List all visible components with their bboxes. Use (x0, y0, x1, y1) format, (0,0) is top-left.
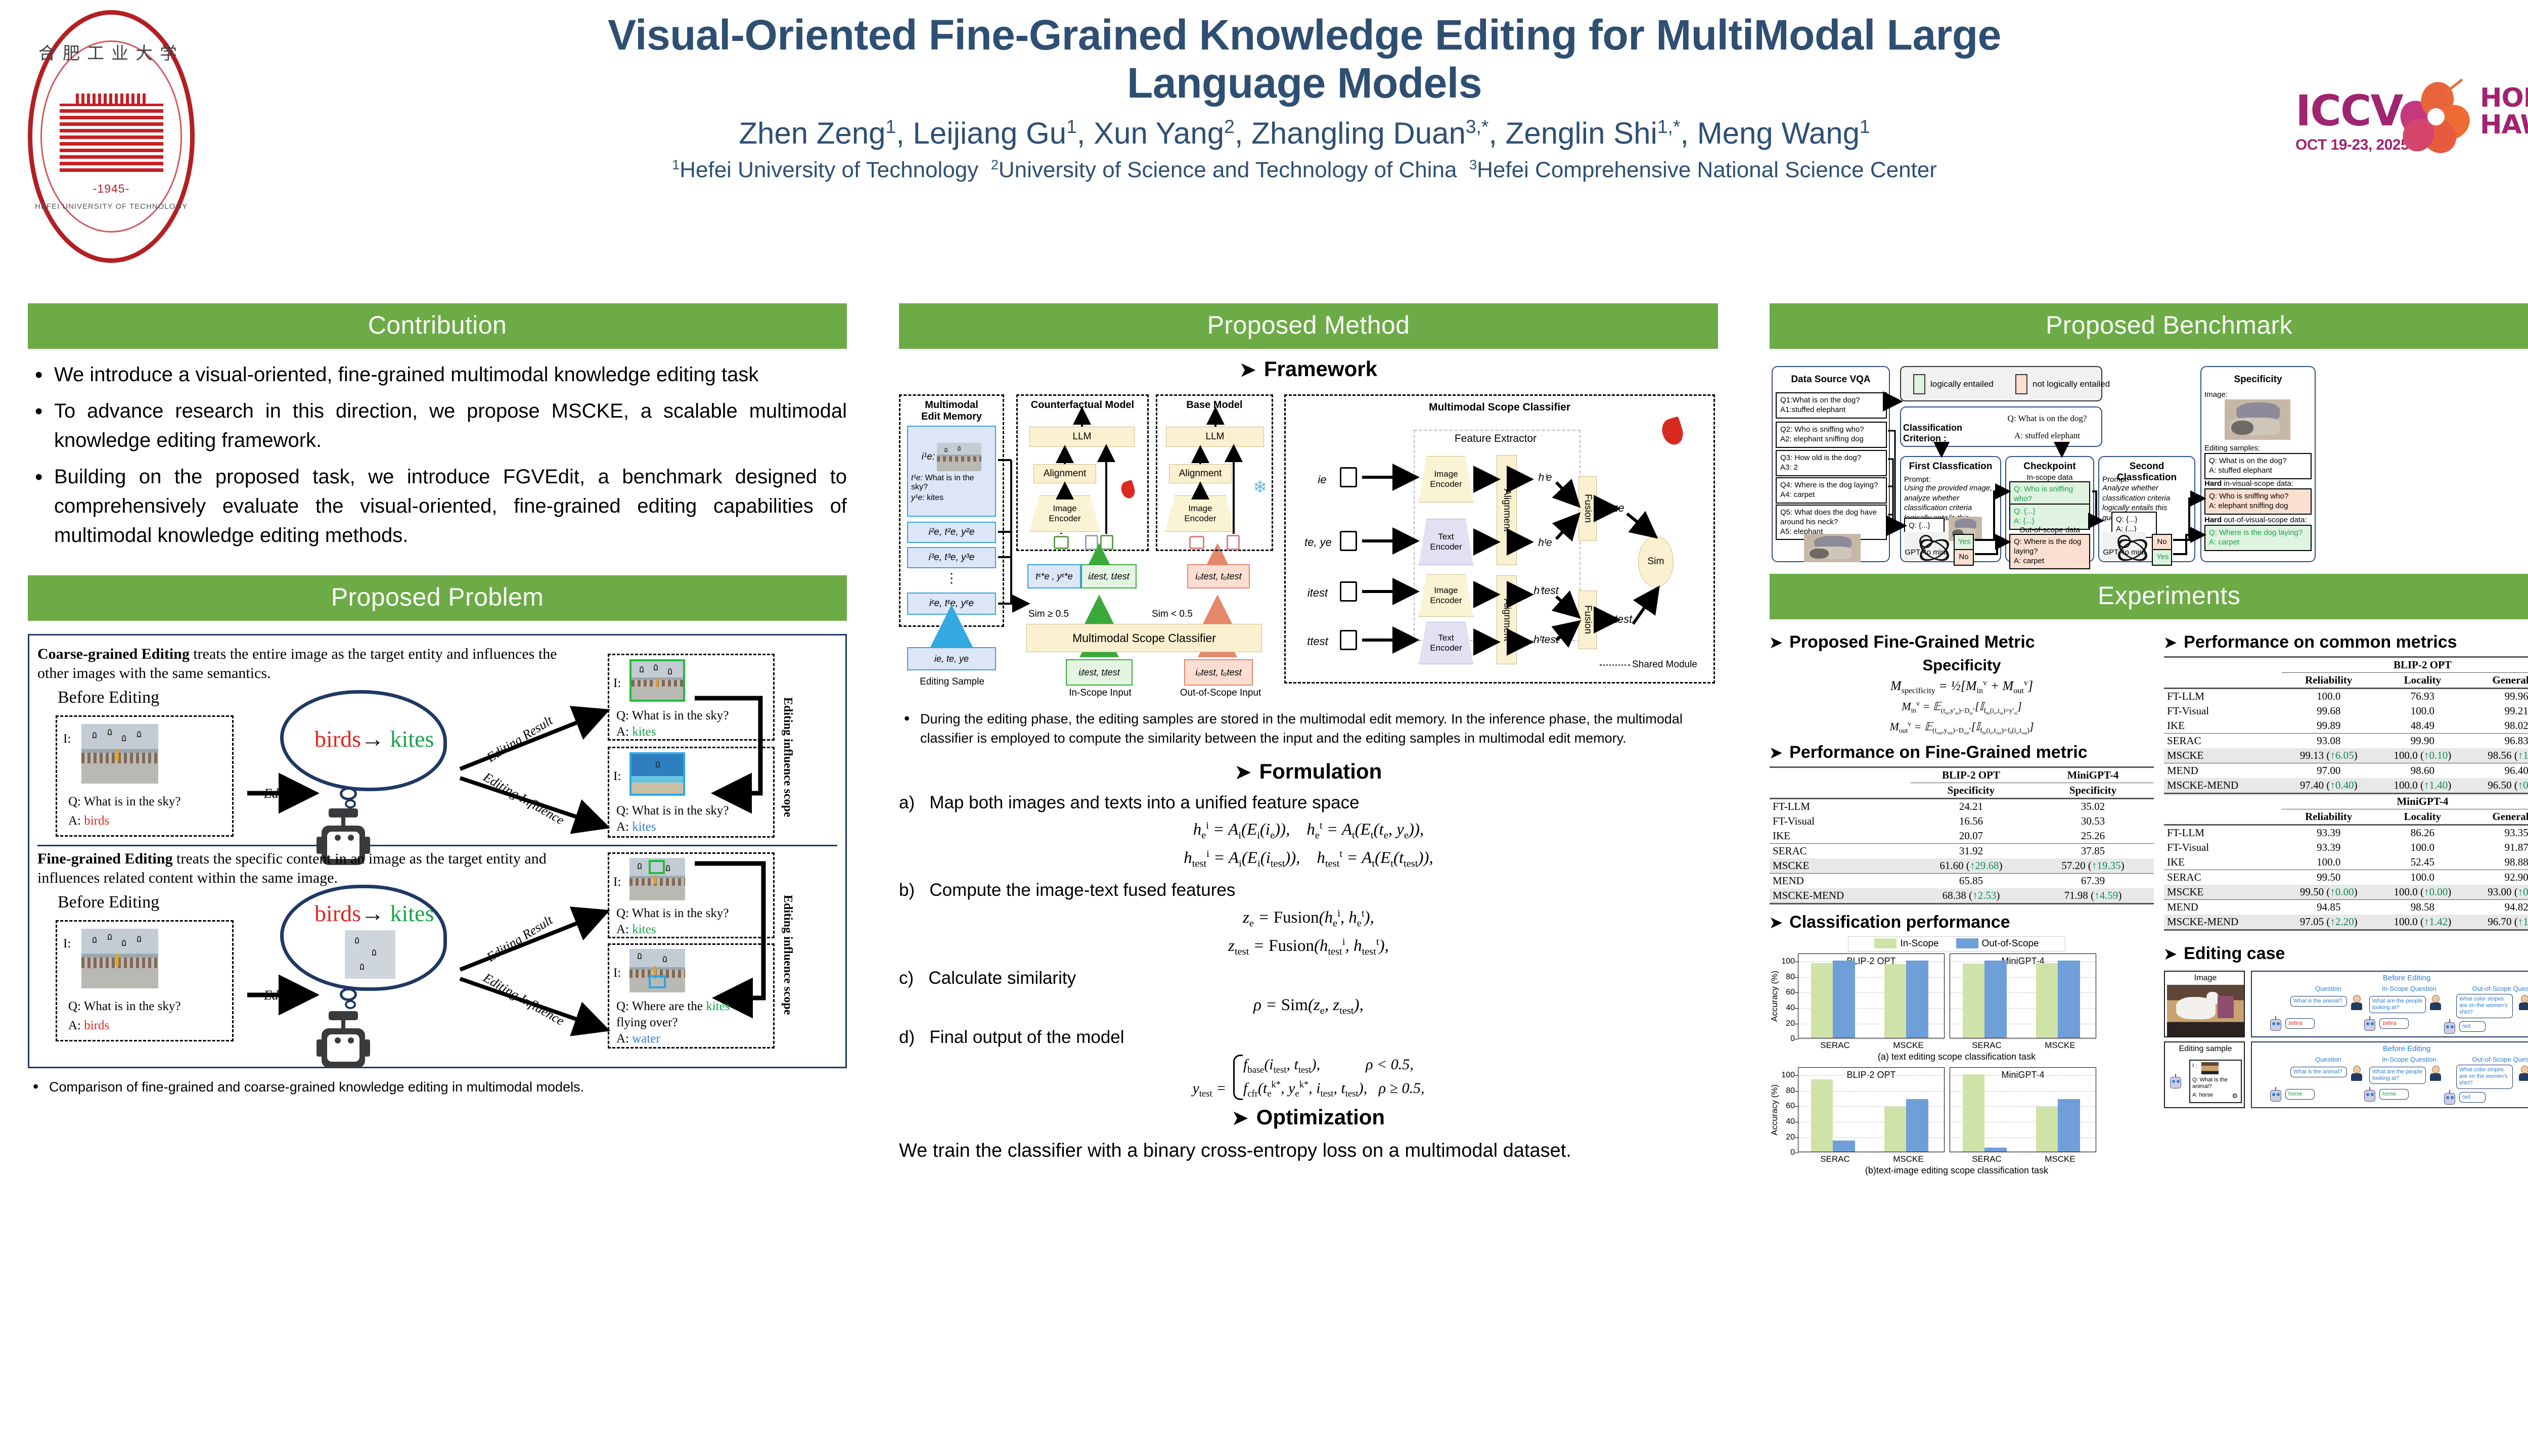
arrow-bullet-icon: ➤ (1240, 359, 1256, 381)
answer-bubble-in-1: zebra (2379, 1018, 2409, 1029)
chart-bar (2036, 1107, 2058, 1152)
table-cell: 100.0 (2376, 704, 2470, 718)
editing-case-before-panel: Before Editing Question In-Scope Questio… (2251, 971, 2528, 1037)
logo-chinese-name: 合肥工业大学 (28, 39, 195, 64)
sky-kite-photo (629, 752, 685, 796)
chart-caption: (a) text editing scope classification ta… (1770, 1052, 2144, 1062)
piecewise-cases: fbase(itest, ttest), ρ < 0.5, fcfr(tek*,… (1230, 1054, 1425, 1101)
question-col-label-2: Question (2300, 1056, 2356, 1063)
sample-image-label: I : (2192, 1063, 2197, 1069)
table-cell: 98.88 (2469, 855, 2528, 870)
chart-x-tick: SERAC (1972, 1152, 2002, 1164)
fine-scope-label: Editing influence scope (781, 895, 794, 1015)
fine-influence-box: I: Q: Where are the kites flying over? A… (608, 943, 775, 1049)
question-bubble-2: What is the animal? (2290, 1067, 2347, 1077)
table-cell: 92.90 (2469, 870, 2528, 885)
table-cell: 52.45 (2376, 855, 2470, 870)
in-scope-col-label-2: In-Scope Question (2371, 1056, 2447, 1063)
metric-equation-1: Mspecificity = ½[Minv + Moutv] (1770, 678, 2154, 696)
chart-x-tick: MSCKE (2045, 1152, 2075, 1164)
chart-y-axis-label: Accuracy (%) (1770, 1067, 1781, 1152)
fine-result-box: I: Q: What is in the sky? A: kites (608, 852, 775, 938)
table-cell: 93.08 (2282, 734, 2376, 749)
poster-title-line1: Visual-Oriented Fine-Grained Knowledge E… (354, 11, 2255, 59)
table-cell: 99.96 (2469, 689, 2528, 704)
affiliation-list: 1Hefei University of Technology 2Univers… (354, 157, 2255, 184)
formulation-step-d: d) Final output of the model (899, 1025, 1718, 1049)
robot-icon (2170, 1074, 2181, 1089)
table-cell: 99.50 (2282, 870, 2376, 885)
logo-building-icon (60, 104, 163, 172)
section-header-contribution: Contribution (28, 303, 847, 349)
out-scope-bubble-1: What color stripes are on the women's sh… (2456, 994, 2513, 1018)
table-row-label: MEND (1770, 874, 1910, 889)
sample-thumbnail (2201, 1062, 2219, 1074)
chart-bar (2036, 963, 2058, 1038)
fine-influence-question-line1: Q: Where are the kites (616, 998, 730, 1014)
table-row: FT-LLM24.2135.02 (1770, 799, 2154, 814)
robot-icon (2444, 1019, 2455, 1034)
table-row-label: MSCKE (2164, 748, 2282, 763)
table-col-header: Specificity (2032, 783, 2154, 799)
table-cell: 24.21 (1910, 799, 2032, 814)
person-icon (2351, 995, 2362, 1010)
before-editing-title-2: Before Editing (2252, 1044, 2528, 1053)
table-row-label: IKE (2164, 718, 2282, 734)
coarse-grained-panel: Coarse-grained Editing treats the entire… (37, 642, 837, 846)
kite-beach-photo-edited (629, 659, 685, 702)
table-cell: 20.07 (1910, 829, 2032, 844)
metric-equation-3: Moutv = 𝔼(tout,yout)~Doutv[𝕀fθe(ie,tout)… (1770, 720, 2154, 736)
kite-photo-green-box (629, 858, 685, 900)
robot-icon (2270, 1087, 2281, 1102)
common-metrics-subheading: ➤Performance on common metrics (2164, 632, 2528, 652)
table-cell: 57.20 (↑19.35) (2032, 858, 2154, 874)
section-header-experiments: Experiments (1770, 574, 2528, 619)
editing-case-after-panel: Before Editing Question In-Scope Questio… (2251, 1041, 2528, 1108)
table-cell: 65.85 (1910, 874, 2032, 889)
fine-grained-panel: Fine-grained Editing treats the specific… (37, 846, 837, 1059)
chart-y-axis-label: Accuracy (%) (1770, 953, 1781, 1038)
table-row-label: FT-Visual (2164, 704, 2282, 718)
wrench-icon: ⚙ (2232, 1092, 2238, 1100)
out-scope-col-label-2: Out-of-Scope Question (2460, 1056, 2528, 1063)
arrow-bullet-icon: ➤ (2164, 634, 2177, 651)
chart-bar (1963, 1074, 1985, 1152)
logo-english-name: HEFEI UNIVERSITY OF TECHNOLOGY (28, 202, 195, 211)
answer-bubble-in-2: horse (2379, 1089, 2409, 1100)
table-cell: 98.60 (2376, 763, 2470, 779)
editing-case-image-box: Image (2164, 971, 2245, 1037)
image-label: I: (613, 874, 621, 890)
before-editing-title-1: Before Editing (2252, 974, 2528, 982)
section-header-proposed-benchmark: Proposed Benchmark (1770, 303, 2528, 349)
table-cell: 93.35 (2469, 825, 2528, 841)
table-cell: 61.60 (↑29.68) (1910, 858, 2032, 874)
table-row-label: FT-Visual (2164, 840, 2282, 855)
person-icon (2351, 1066, 2362, 1081)
table-cell: 93.00 (↑0.10) (2469, 885, 2528, 900)
chart-bar (2058, 961, 2080, 1038)
table-row-label: MSCKE (1770, 858, 1910, 874)
chart-panel: BLIP-2 OPT020406080100SERACMSCKE (1798, 1067, 1945, 1152)
fine-influence-question-line2: flying over? (616, 1015, 678, 1030)
table-row-label: FT-LLM (1770, 799, 1910, 814)
logo-year: -1945- (28, 182, 195, 196)
table-cell: 100.0 (↑1.40) (2376, 778, 2470, 794)
chart-panel: MiniGPT-4SERACMSCKE (1950, 953, 2096, 1038)
table-col-header: Generality (2469, 809, 2528, 825)
fine-grained-performance-subheading: ➤Performance on Fine-Grained metric (1770, 743, 2154, 762)
table-cell: 98.02 (2469, 718, 2528, 734)
table-row-label: SERAC (2164, 734, 2282, 749)
table-col-header: Locality (2376, 673, 2470, 689)
table-cell: 94.85 (2282, 900, 2376, 915)
table-row: MEND97.0098.6096.40 (2164, 763, 2528, 779)
table-col-header: Locality (2376, 809, 2470, 825)
table-cell: 93.39 (2282, 840, 2376, 855)
table-cell: 99.90 (2376, 734, 2470, 749)
table-cell: 37.85 (2032, 844, 2154, 859)
table-row: MSCKE-MEND68.38 (↑2.53)71.98 (↑4.59) (1770, 888, 2154, 903)
table-cell: 48.49 (2376, 718, 2470, 734)
table-col-header: Generality (2469, 673, 2528, 689)
table-cell: 100.0 (2282, 689, 2376, 704)
equation-5: ρ = Sim(ze, ztest), (899, 994, 1718, 1018)
table-row: FT-Visual16.5630.53 (1770, 814, 2154, 829)
chart-x-tick: SERAC (1972, 1038, 2002, 1051)
list-item: Building on the proposed task, we introd… (28, 462, 847, 550)
table-col-group: BLIP-2 OPT (2282, 657, 2528, 673)
iccv-date: OCT 19-23, 2025 (2295, 136, 2409, 154)
chart-bar (1811, 1079, 1833, 1152)
list-item: We introduce a visual-oriented, fine-gra… (28, 360, 847, 389)
table-cell: 91.87 (2469, 840, 2528, 855)
arrow-bullet-icon: ➤ (1770, 634, 1782, 651)
table-cell: 99.68 (2282, 704, 2376, 718)
equation-3: ze = Fusion(hei, het), (899, 906, 1718, 931)
classification-performance-subheading: ➤Classification performance (1770, 913, 2154, 932)
chart-bar (1984, 961, 2007, 1038)
table-cell: 97.05 (↑2.20) (2282, 915, 2376, 929)
table-cell: 100.0 (↑0.10) (2376, 748, 2470, 763)
proposed-problem-figure: Coarse-grained Editing treats the entire… (28, 634, 847, 1068)
table-row-label: MEND (2164, 900, 2282, 915)
left-column: Contribution We introduce a visual-orien… (28, 303, 847, 1097)
sample-answer: A: horse (2192, 1092, 2213, 1098)
table-cell: 100.0 (2376, 870, 2470, 885)
equation-1: hei = Ai(Ei(ie)), het = At(Et(te, ye)), (899, 818, 1718, 843)
editing-sample-card: I : Q: What is the animal? A: horse ⚙ (2189, 1060, 2242, 1103)
formulation-step-c: c) Calculate similarity (899, 966, 1718, 990)
robot-icon (2270, 1016, 2281, 1031)
classification-charts: In-ScopeOut-of-ScopeAccuracy (%)BLIP-2 O… (1770, 936, 2144, 1176)
robot-icon (2364, 1016, 2375, 1031)
table-cell: 25.26 (2032, 829, 2154, 844)
chart-bar (1833, 961, 1855, 1038)
fine-result-question: Q: What is in the sky? (616, 905, 729, 921)
iccv-logo: ICCV OCT 19-23, 2025 HONOLULU HAWAII (2290, 66, 2528, 182)
robot-icon (2444, 1090, 2455, 1105)
table-cell: 86.26 (2376, 825, 2470, 841)
table-cell: 97.40 (↑0.40) (2282, 778, 2376, 794)
table-row-label: SERAC (1770, 844, 1910, 859)
iccv-city: HONOLULU (2480, 85, 2528, 112)
table-cell: 100.0 (2376, 840, 2470, 855)
table-cell: 98.58 (2376, 900, 2470, 915)
chart-bar (1963, 964, 1985, 1038)
answer-bubble-out-1: red (2459, 1021, 2486, 1032)
poster-title-line2: Language Models (354, 59, 2255, 107)
iccv-location: HONOLULU HAWAII (2480, 85, 2528, 139)
table-col-header: Reliability (2282, 673, 2376, 689)
table-row: MEND94.8598.5894.82 (2164, 900, 2528, 915)
table-row-label: FT-LLM (2164, 689, 2282, 704)
table-cell: 100.0 (↑1.42) (2376, 915, 2470, 929)
table-col-group: MiniGPT-4 (2282, 794, 2528, 809)
table-row: FT-Visual93.39100.091.87 (2164, 840, 2528, 855)
question-col-label-1: Question (2300, 985, 2356, 992)
table-cell: 99.13 (↑6.05) (2282, 748, 2376, 763)
optimization-text: We train the classifier with a binary cr… (899, 1137, 1718, 1164)
table-col-group: BLIP-2 OPT (1910, 767, 2032, 783)
table-row: FT-LLM93.3986.2693.35 (2164, 825, 2528, 841)
table-cell: 96.50 (↑0.10) (2469, 778, 2528, 794)
table-cell: 76.93 (2376, 689, 2470, 704)
iccv-state: HAWAII (2480, 112, 2528, 139)
table-cell: 35.02 (2032, 799, 2154, 814)
section-header-proposed-problem: Proposed Problem (28, 575, 847, 621)
legend-entry: In-Scope (1874, 938, 1938, 949)
fine-grained-table: BLIP-2 OPTMiniGPT-4SpecificitySpecificit… (1770, 766, 2154, 904)
table-row-label: MEND (2164, 763, 2282, 779)
hibiscus-flower-icon (2399, 80, 2475, 158)
equation-2: htesti = Ai(Ei(itest)), htestt = At(Et(t… (899, 847, 1718, 871)
out-scope-bubble-2: What color stripes are on the women's sh… (2456, 1065, 2513, 1089)
table-row: MEND65.8567.39 (1770, 874, 2154, 889)
chart-legend: In-ScopeOut-of-Scope (1848, 936, 2065, 951)
table-row-label: IKE (2164, 855, 2282, 870)
formulation-list: a) Map both images and texts into a unif… (899, 791, 1718, 1101)
image-label: I: (613, 675, 621, 691)
table-row: FT-LLM100.076.9399.96 (2164, 689, 2528, 704)
table-row-label: FT-LLM (2164, 825, 2282, 841)
table-cell: 67.39 (2032, 874, 2154, 889)
arrow-bullet-icon: ➤ (2164, 946, 2177, 963)
chart-bar (1906, 961, 1928, 1038)
table-cell: 96.70 (↑1.88) (2469, 915, 2528, 929)
image-label: I: (613, 965, 621, 981)
table-row: FT-Visual99.68100.099.21 (2164, 704, 2528, 718)
chart-x-tick: MSCKE (1893, 1152, 1923, 1164)
specificity-metric-label: Specificity (1770, 656, 2154, 674)
table-row-label: FT-Visual (1770, 814, 1910, 829)
coarse-result-answer: A: kites (616, 724, 656, 740)
person-icon (2430, 1066, 2441, 1081)
framework-subheading: ➤Framework (899, 357, 1718, 381)
equation-6: ytest = fbase(itest, ttest), ρ < 0.5, fc… (899, 1054, 1718, 1101)
formulation-subheading: ➤Formulation (899, 759, 1718, 784)
framework-note: During the editing phase, the editing sa… (899, 709, 1718, 748)
coarse-result-question: Q: What is in the sky? (616, 708, 729, 723)
table-row: IKE99.8948.4998.02 (2164, 718, 2528, 734)
chart-x-tick: SERAC (1820, 1152, 1850, 1164)
coarse-influence-question: Q: What is in the sky? (616, 803, 729, 818)
chart-bar (1984, 1148, 2007, 1152)
chart-caption: (b)text-image editing scope classificati… (1770, 1165, 2144, 1176)
chart-bar (1811, 963, 1833, 1038)
author-list: Zhen Zeng1, Leijiang Gu1, Xun Yang2, Zha… (354, 115, 2255, 152)
iccv-wordmark: ICCV (2295, 86, 2403, 135)
chart-bar (1884, 964, 1907, 1038)
table-row: IKE100.052.4598.88 (2164, 855, 2528, 870)
table-cell: 31.92 (1910, 844, 2032, 859)
equation-4: ztest = Fusion(htesti, htestt), (899, 935, 1718, 959)
answer-bubble-q-1: zebra (2285, 1018, 2315, 1029)
table-row: SERAC93.0899.9096.83 (2164, 734, 2528, 749)
table-cell: 94.82 (2469, 900, 2528, 915)
table-row: SERAC31.9237.85 (1770, 844, 2154, 859)
kite-photo-blue-box (629, 949, 685, 992)
table-cell: 97.00 (2282, 763, 2376, 779)
chart-bar (1906, 1099, 1928, 1152)
person-icon (2519, 1066, 2528, 1081)
coarse-influence-answer: A: kites (616, 819, 656, 835)
section-header-proposed-method: Proposed Method (899, 303, 1718, 349)
table-row: MSCKE61.60 (↑29.68)57.20 (↑19.35) (1770, 858, 2154, 874)
table-row-label: MSCKE (2164, 885, 2282, 900)
chart-bar (1884, 1107, 1907, 1152)
sample-question: Q: What is the animal? (2192, 1077, 2241, 1089)
benchmark-figure: Data Source VQA Q1:What is on the dog?A1… (1770, 354, 2528, 564)
title-block: Visual-Oriented Fine-Grained Knowledge E… (354, 11, 2255, 184)
editing-case-subheading: ➤Editing case (2164, 944, 2528, 964)
table-cell: 68.38 (↑2.53) (1910, 888, 2032, 903)
table-cell: 71.98 (↑4.59) (2032, 888, 2154, 903)
editing-sample-label: Editing sample (2165, 1044, 2246, 1054)
chart-bar (2058, 1099, 2080, 1152)
table-row-label: MSCKE-MEND (1770, 888, 1910, 903)
question-bubble-1: What is the animal? (2290, 996, 2347, 1007)
in-scope-bubble-1: What are the people looking at? (2369, 996, 2426, 1013)
chart-panel: BLIP-2 OPT020406080100SERACMSCKE (1798, 953, 1945, 1038)
table-cell: 30.53 (2032, 814, 2154, 829)
table-cell: 99.89 (2282, 718, 2376, 734)
table-row-label: IKE (1770, 829, 1910, 844)
table-col-group: MiniGPT-4 (2032, 767, 2154, 783)
editing-case-figure: Image Editing sample I : Q: Wh (2164, 968, 2528, 1119)
right-column: Proposed Benchmark Data Source VQA Q1:Wh… (1770, 303, 2528, 1176)
table-cell: 99.21 (2469, 704, 2528, 718)
table-row: IKE20.0725.26 (1770, 829, 2154, 844)
framework-diagram: MultimodalEdit Memory i¹e: t¹e: What is … (899, 386, 1718, 702)
chart-panel: MiniGPT-4SERACMSCKE (1950, 1067, 2096, 1152)
image-label: I: (613, 768, 621, 784)
table-cell: 100.0 (↑0.00) (2376, 885, 2470, 900)
arrow-bullet-icon: ➤ (1770, 915, 1782, 931)
formulation-step-b: b) Compute the image-text fused features (899, 878, 1718, 902)
table-cell: 98.56 (↑1.73) (2469, 748, 2528, 763)
chart-x-tick: SERAC (1820, 1038, 1850, 1051)
table-cell: 96.40 (2469, 763, 2528, 779)
metric-equation-2: Minv = 𝔼(tin,y′in)~Dinv[𝕀fθe(ie,tin)=y′i… (1770, 700, 2154, 715)
editing-case-sample-box: Editing sample I : Q: What is the animal… (2164, 1041, 2245, 1108)
table-cell: 96.83 (2469, 734, 2528, 749)
table-col-header: Reliability (2282, 809, 2376, 825)
chart-x-tick: MSCKE (1893, 1038, 1923, 1051)
framework-arrows-msc (899, 386, 1718, 700)
horse-photo (2167, 985, 2244, 1036)
table-row: SERAC99.50100.092.90 (2164, 870, 2528, 885)
answer-bubble-out-2: red (2459, 1092, 2486, 1103)
table-col-header: Specificity (1910, 783, 2032, 799)
table-cell: 99.50 (↑0.00) (2282, 885, 2376, 900)
formulation-step-a: a) Map both images and texts into a unif… (899, 791, 1718, 814)
chart-x-tick: MSCKE (2045, 1038, 2075, 1051)
table-row: MSCKE99.50 (↑0.00)100.0 (↑0.00)93.00 (↑0… (2164, 885, 2528, 900)
arrow-bullet-icon: ➤ (1235, 762, 1251, 783)
person-icon (2519, 995, 2528, 1010)
contribution-list: We introduce a visual-oriented, fine-gra… (28, 360, 847, 550)
common-metrics-table: BLIP-2 OPTReliabilityLocalityGeneralityF… (2164, 656, 2528, 931)
poster-header: 合肥工业大学 -1945- HEFEI UNIVERSITY OF TECHNO… (0, 0, 2528, 283)
coarse-scope-label: Editing influence scope (781, 697, 794, 817)
robot-icon (2364, 1087, 2375, 1102)
in-scope-bubble-2: What are the people looking at? (2369, 1067, 2426, 1084)
person-icon (2430, 995, 2441, 1010)
editing-case-image-label: Image (2165, 974, 2246, 983)
middle-column: Proposed Method ➤Framework MultimodalEdi… (899, 303, 1718, 1164)
coarse-result-box: I: Q: What is in the sky? A: kites (608, 654, 775, 741)
table-row: MSCKE-MEND97.40 (↑0.40)100.0 (↑1.40)96.5… (2164, 778, 2528, 794)
arrow-bullet-icon: ➤ (1232, 1108, 1248, 1129)
fine-grained-metric-subheading: ➤Proposed Fine-Grained Metric (1770, 632, 2154, 652)
table-row-label: SERAC (2164, 870, 2282, 885)
legend-entry: Out-of-Scope (1956, 938, 2039, 949)
arrow-bullet-icon: ➤ (1770, 745, 1782, 761)
list-item: To advance research in this direction, w… (28, 396, 847, 455)
table-row-label: MSCKE-MEND (2164, 915, 2282, 929)
table-row: MSCKE99.13 (↑6.05)100.0 (↑0.10)98.56 (↑1… (2164, 748, 2528, 763)
fine-result-answer: A: kites (616, 922, 656, 937)
in-scope-col-label-1: In-Scope Question (2371, 985, 2447, 992)
optimization-subheading: ➤Optimization (899, 1105, 1718, 1129)
chart-bar (1833, 1141, 1855, 1152)
hefei-university-logo: 合肥工业大学 -1945- HEFEI UNIVERSITY OF TECHNO… (28, 10, 195, 263)
table-cell: 93.39 (2282, 825, 2376, 841)
table-cell: 100.0 (2282, 855, 2376, 870)
fine-influence-answer: A: water (616, 1031, 660, 1046)
answer-bubble-q-2: horse (2285, 1089, 2315, 1100)
benchmark-arrows (1770, 354, 2528, 564)
table-cell: 16.56 (1910, 814, 2032, 829)
out-scope-col-label-1: Out-of-Scope Question (2460, 985, 2528, 992)
table-row-label: MSCKE-MEND (2164, 778, 2282, 794)
table-row: MSCKE-MEND97.05 (↑2.20)100.0 (↑1.42)96.7… (2164, 915, 2528, 929)
coarse-influence-box: I: Q: What is in the sky? A: kites (608, 747, 775, 838)
proposed-problem-caption: Comparison of fine-grained and coarse-gr… (28, 1077, 847, 1097)
